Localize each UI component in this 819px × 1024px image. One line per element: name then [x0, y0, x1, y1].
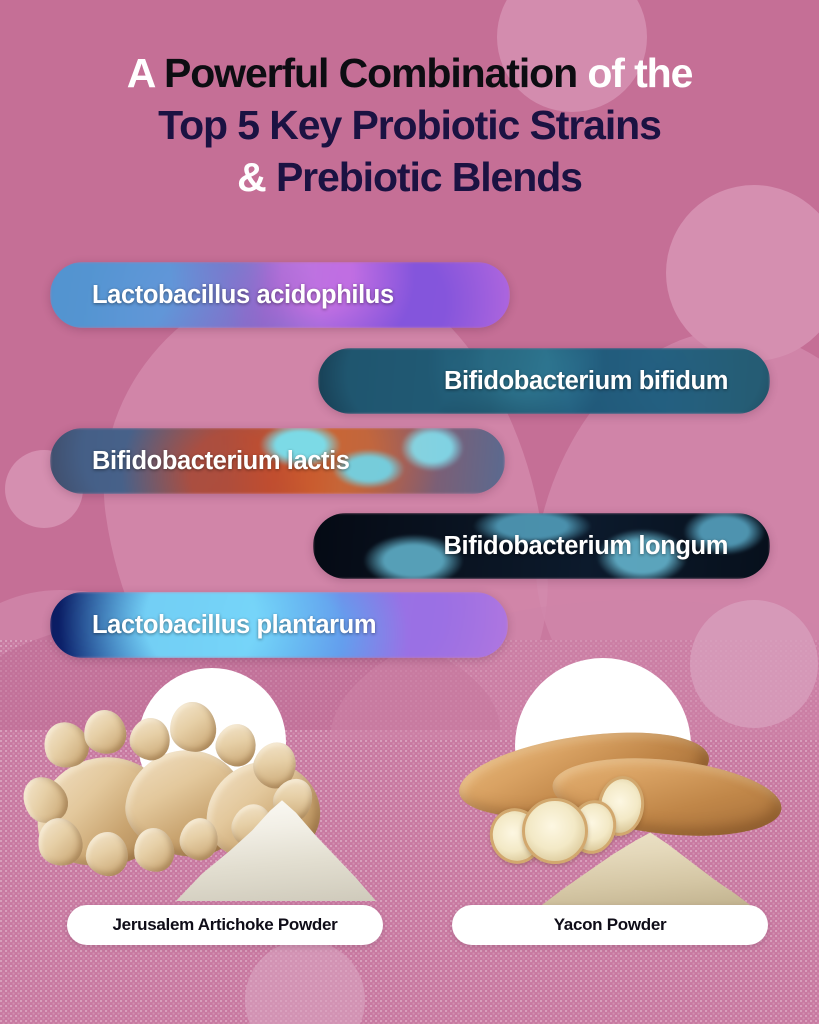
strain-pill-bifidobacterium-lactis[interactable]: Bifidobacterium lactis — [50, 428, 505, 494]
product-label-text: Yacon Powder — [554, 915, 667, 935]
background-circle — [666, 185, 819, 361]
headline-word: Powerful Combination — [164, 50, 587, 96]
strain-label: Bifidobacterium bifidum — [444, 367, 728, 396]
strain-pill-bifidobacterium-bifidum[interactable]: Bifidobacterium bifidum — [318, 348, 770, 414]
strain-label: Lactobacillus plantarum — [92, 611, 376, 640]
product-yacon — [430, 648, 800, 948]
strain-label: Bifidobacterium lactis — [92, 447, 350, 476]
product-label-text: Jerusalem Artichoke Powder — [113, 915, 338, 935]
headline-word: Top 5 Key Probiotic Strains — [158, 102, 661, 148]
headline-line-1: A Powerful Combination of the — [0, 52, 819, 96]
strain-label: Bifidobacterium longum — [444, 532, 728, 561]
headline-line-2: Top 5 Key Probiotic Strains — [0, 104, 819, 148]
product-jerusalem-artichoke — [28, 648, 398, 948]
strain-pill-bifidobacterium-longum[interactable]: Bifidobacterium longum — [313, 513, 770, 579]
headline-word: A — [127, 50, 164, 96]
headline: A Powerful Combination of the Top 5 Key … — [0, 52, 819, 200]
headline-word: Prebiotic Blends — [276, 154, 582, 200]
strain-label: Lactobacillus acidophilus — [92, 281, 394, 310]
headline-line-3: & Prebiotic Blends — [0, 156, 819, 200]
headline-word: of the — [587, 50, 692, 96]
headline-word: & — [237, 154, 276, 200]
infographic-canvas: A Powerful Combination of the Top 5 Key … — [0, 0, 819, 1024]
product-label-jerusalem-artichoke-powder[interactable]: Jerusalem Artichoke Powder — [67, 905, 383, 945]
product-label-yacon-powder[interactable]: Yacon Powder — [452, 905, 768, 945]
strain-pill-lactobacillus-acidophilus[interactable]: Lactobacillus acidophilus — [50, 262, 510, 328]
